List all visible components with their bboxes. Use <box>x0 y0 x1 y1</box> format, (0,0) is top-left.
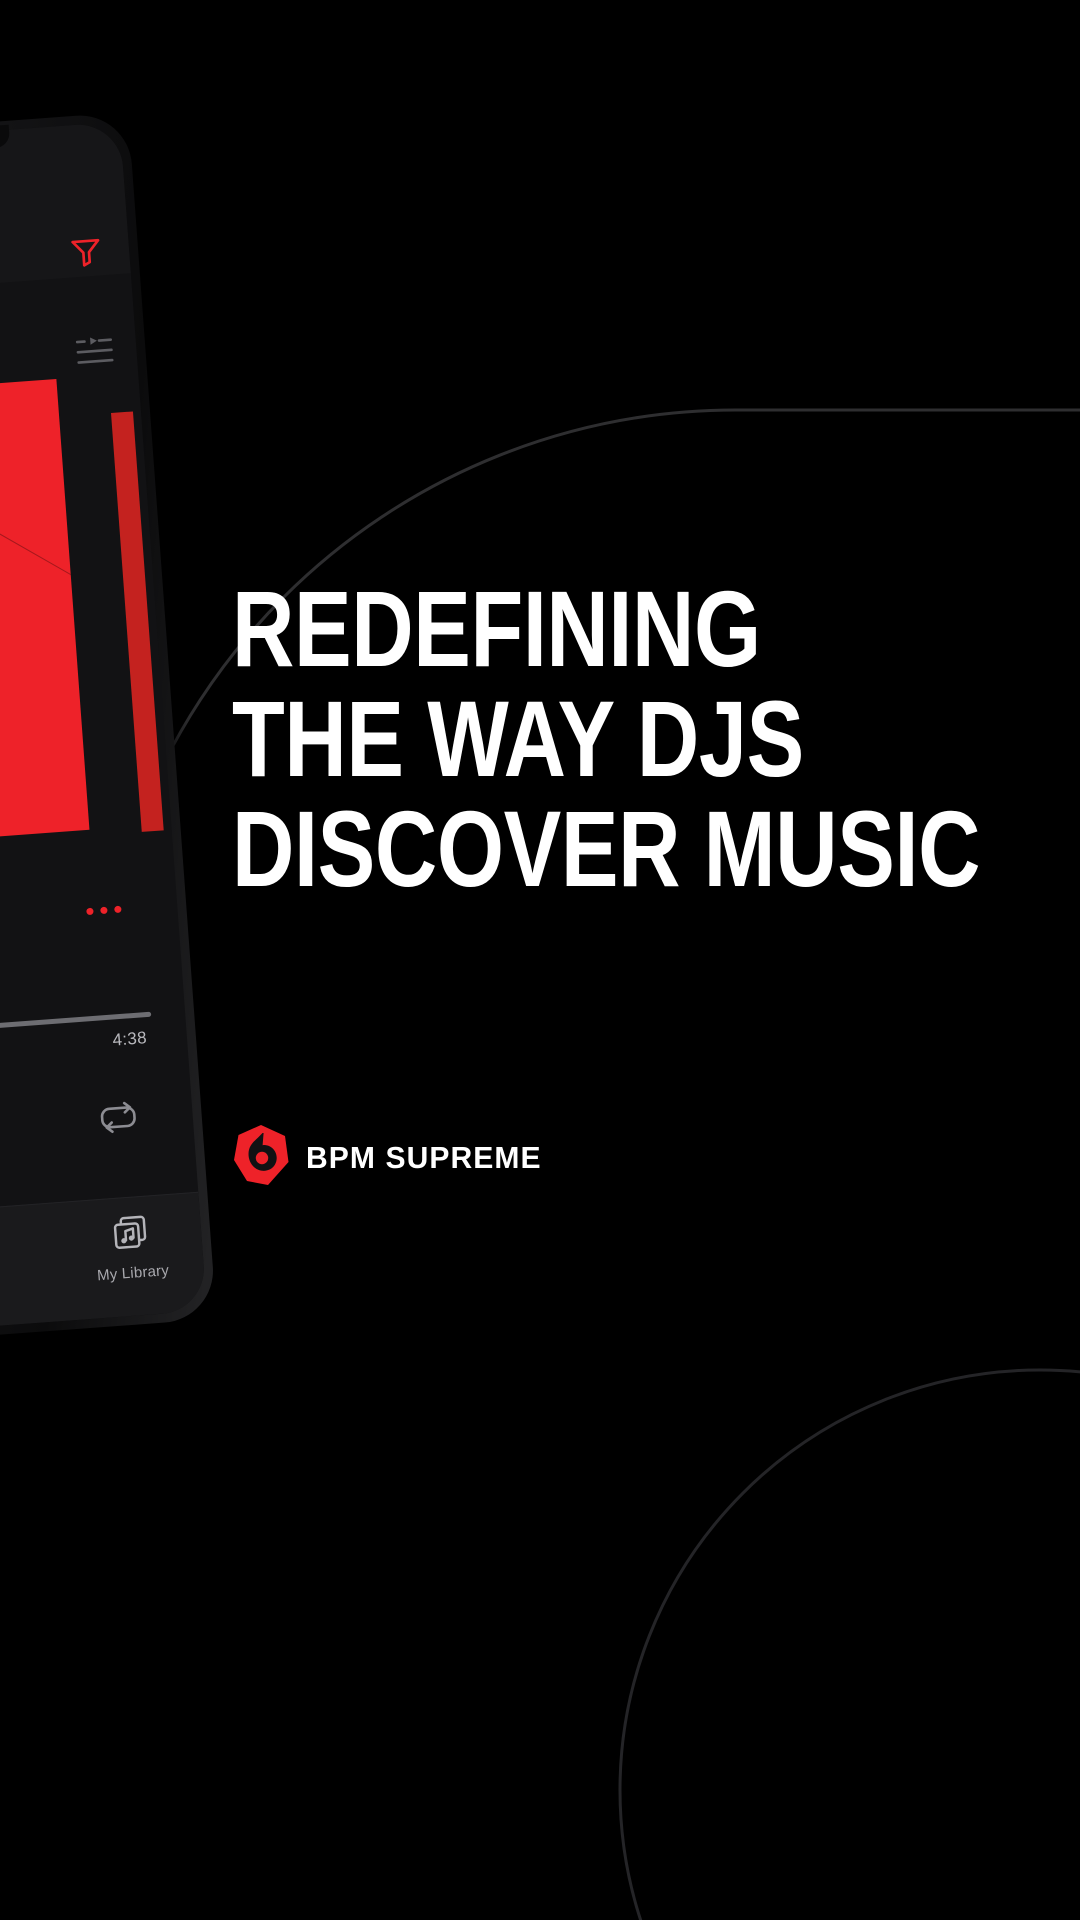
arc-bottom-circle <box>620 1370 1080 1920</box>
phone-mockup: 4:38 <box>0 112 217 1345</box>
hero-copy: REDEFINING THE WAY DJS DISCOVER MUSIC <box>232 574 932 904</box>
repeat-loop-icon[interactable] <box>99 1099 142 1141</box>
artwork-diagonal-line <box>0 379 89 586</box>
sidebar-item-label: My Library <box>86 1261 181 1285</box>
headline-line-3: DISCOVER MUSIC <box>232 794 792 904</box>
promo-screen: 4:38 <box>0 0 1080 1920</box>
bpm-supreme-hexagon-b-icon <box>232 1124 290 1191</box>
headline-line-1: REDEFINING <box>232 574 792 684</box>
filter-funnel-icon[interactable] <box>68 233 105 276</box>
play-queue-list-icon[interactable] <box>75 335 115 373</box>
bottom-navigation-bar: My Library <box>0 1192 207 1336</box>
dot <box>86 908 93 915</box>
sidebar-item-my-library[interactable]: My Library <box>82 1210 181 1285</box>
track-time-remaining: 4:38 <box>112 1028 148 1050</box>
brand-lockup: BPM SUPREME <box>232 1124 549 1191</box>
artwork-side-strip <box>111 411 164 831</box>
dot <box>100 907 107 914</box>
phone-frame: 4:38 <box>0 112 217 1345</box>
dot <box>114 906 121 913</box>
headline-line-2: THE WAY DJS <box>232 684 792 794</box>
app-topbar <box>0 122 131 299</box>
brand-wordmark: BPM SUPREME <box>306 1140 542 1176</box>
phone-screen: 4:38 <box>0 122 207 1336</box>
more-options-dots-icon[interactable] <box>86 906 121 916</box>
album-artwork[interactable] <box>0 379 89 852</box>
music-library-stack-icon <box>109 1239 154 1259</box>
